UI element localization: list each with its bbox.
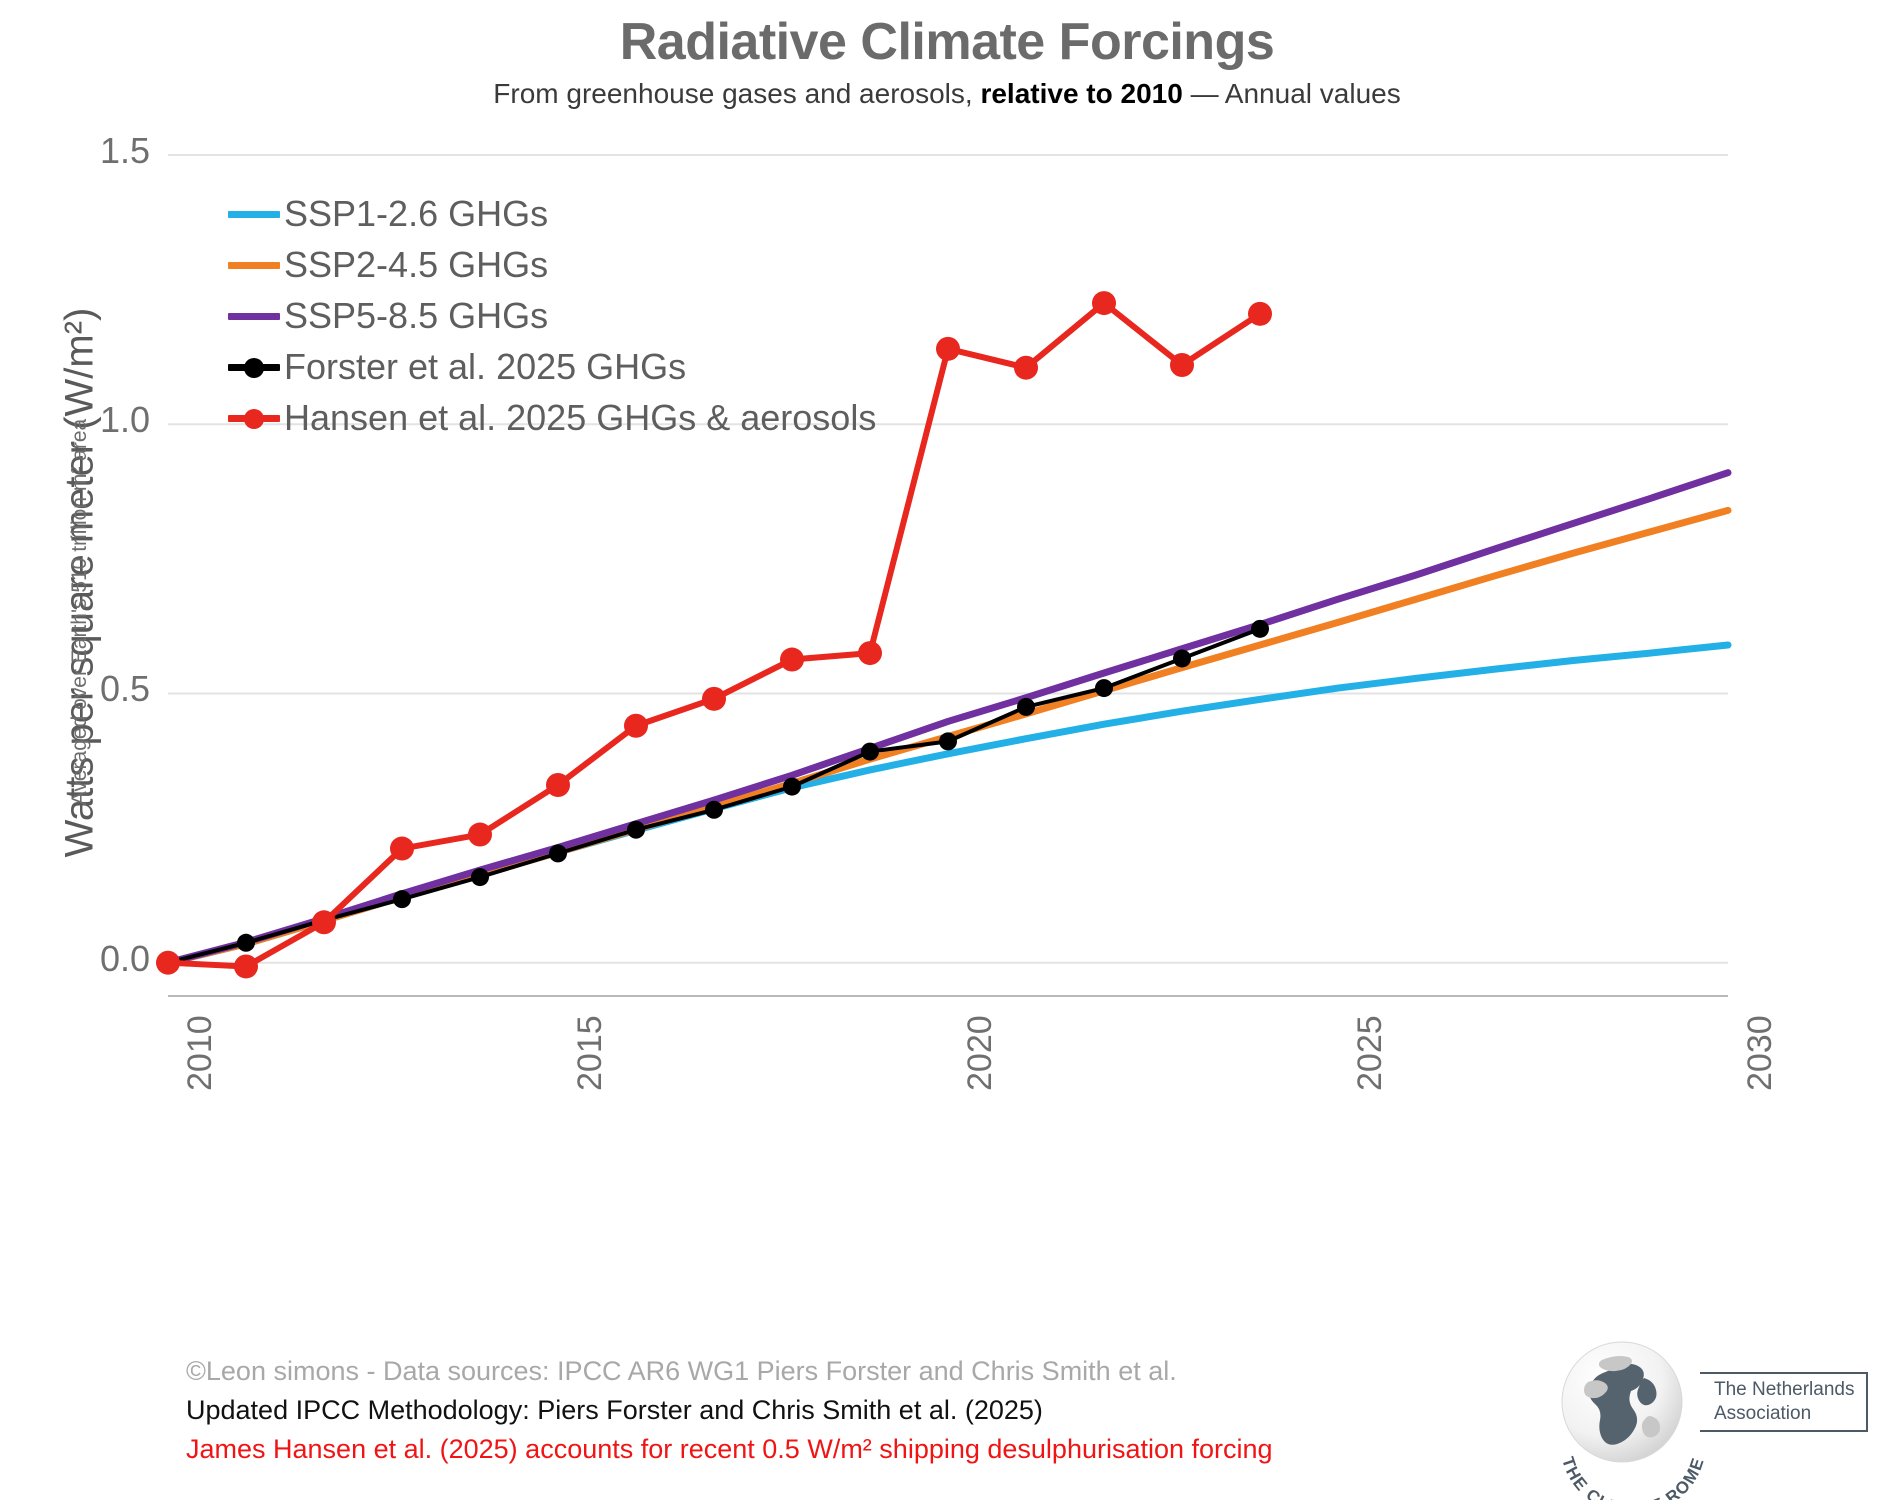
subtitle-suffix: — Annual values [1183, 78, 1401, 109]
legend-swatch-icon [228, 353, 280, 381]
y-axis-subtitle: Averaged over Earth's 510 trillion m² ar… [68, 292, 92, 932]
legend-item-label: Hansen et al. 2025 GHGs & aerosols [284, 397, 876, 439]
chart-legend: SSP1-2.6 GHGsSSP2-4.5 GHGsSSP5-8.5 GHGsF… [228, 188, 876, 443]
data-point [624, 714, 648, 738]
data-point [1017, 698, 1035, 716]
legend-item-label: SSP2-4.5 GHGs [284, 244, 548, 286]
y-tick-label: 1.0 [30, 399, 150, 441]
data-point [156, 951, 180, 975]
data-point [1173, 649, 1191, 667]
legend-swatch-icon [228, 302, 280, 330]
footer-methodology: Updated IPCC Methodology: Piers Forster … [186, 1391, 1486, 1430]
legend-swatch-icon [228, 404, 280, 432]
data-point [390, 837, 414, 861]
club-of-rome-logo: THE CLUB OF ROME The Netherlands Associa… [1548, 1330, 1878, 1500]
legend-item-5[interactable]: Hansen et al. 2025 GHGs & aerosols [228, 392, 876, 443]
org-line-1: The Netherlands [1714, 1378, 1866, 1402]
data-point [312, 910, 336, 934]
data-point [702, 687, 726, 711]
data-point [1014, 356, 1038, 380]
y-tick-label: 0.5 [30, 668, 150, 710]
series-3 [168, 473, 1728, 963]
data-point [780, 648, 804, 672]
legend-item-2[interactable]: SSP2-4.5 GHGs [228, 239, 876, 290]
y-tick-label: 1.5 [30, 130, 150, 172]
data-point [1251, 620, 1269, 638]
series-line [168, 473, 1728, 963]
legend-swatch-icon [228, 251, 280, 279]
y-tick-label: 0.0 [30, 938, 150, 980]
subtitle-emphasis: relative to 2010 [980, 78, 1182, 109]
data-point [471, 868, 489, 886]
data-point [858, 641, 882, 665]
data-point [861, 743, 879, 761]
data-point [705, 801, 723, 819]
legend-item-3[interactable]: SSP5-8.5 GHGs [228, 290, 876, 341]
x-tick-label: 2030 [1741, 1015, 1780, 1091]
x-axis-line [168, 995, 1728, 997]
data-point [393, 890, 411, 908]
data-point [468, 823, 492, 847]
data-point [234, 954, 258, 978]
x-tick-label: 2025 [1351, 1015, 1390, 1091]
page-title: Radiative Climate Forcings [0, 12, 1894, 72]
data-point [1092, 291, 1116, 315]
legend-item-4[interactable]: Forster et al. 2025 GHGs [228, 341, 876, 392]
legend-item-label: SSP1-2.6 GHGs [284, 193, 548, 235]
data-point [549, 844, 567, 862]
data-point [546, 773, 570, 797]
footer-hansen-note: James Hansen et al. (2025) accounts for … [186, 1430, 1486, 1469]
legend-swatch-icon [228, 200, 280, 228]
footer: ©Leon simons - Data sources: IPCC AR6 WG… [186, 1352, 1486, 1469]
x-tick-label: 2020 [961, 1015, 1000, 1091]
globe-icon [1558, 1338, 1686, 1466]
x-tick-label: 2015 [571, 1015, 610, 1091]
x-tick-label: 2010 [181, 1015, 220, 1091]
data-point [1095, 679, 1113, 697]
data-point [939, 732, 957, 750]
legend-item-label: Forster et al. 2025 GHGs [284, 346, 686, 388]
data-point [237, 934, 255, 952]
data-point [783, 778, 801, 796]
netherlands-association-box: The Netherlands Association [1700, 1372, 1868, 1432]
legend-item-1[interactable]: SSP1-2.6 GHGs [228, 188, 876, 239]
subtitle-prefix: From greenhouse gases and aerosols, [493, 78, 980, 109]
data-point [1248, 302, 1272, 326]
data-point [627, 821, 645, 839]
org-line-2: Association [1714, 1402, 1866, 1426]
legend-item-label: SSP5-8.5 GHGs [284, 295, 548, 337]
data-point [1170, 353, 1194, 377]
chart-subtitle: From greenhouse gases and aerosols, rela… [0, 78, 1894, 110]
footer-credit: ©Leon simons - Data sources: IPCC AR6 WG… [186, 1352, 1486, 1391]
data-point [936, 337, 960, 361]
